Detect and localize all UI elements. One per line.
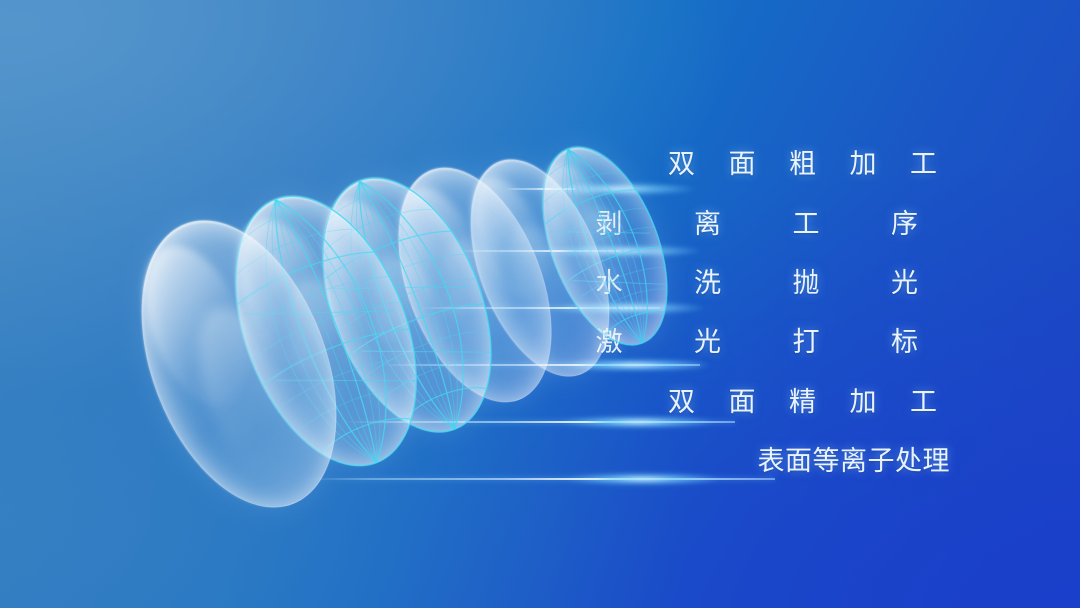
step-label-6: 表面等离子处理 bbox=[758, 448, 951, 475]
step-label-5: 双 面 精 加 工 bbox=[668, 389, 950, 416]
step-label-1: 双 面 粗 加 工 bbox=[668, 151, 950, 178]
slide-canvas: 双 面 粗 加 工剥 离 工 序水 洗 抛 光激 光 打 标双 面 精 加 工表… bbox=[0, 0, 1080, 608]
